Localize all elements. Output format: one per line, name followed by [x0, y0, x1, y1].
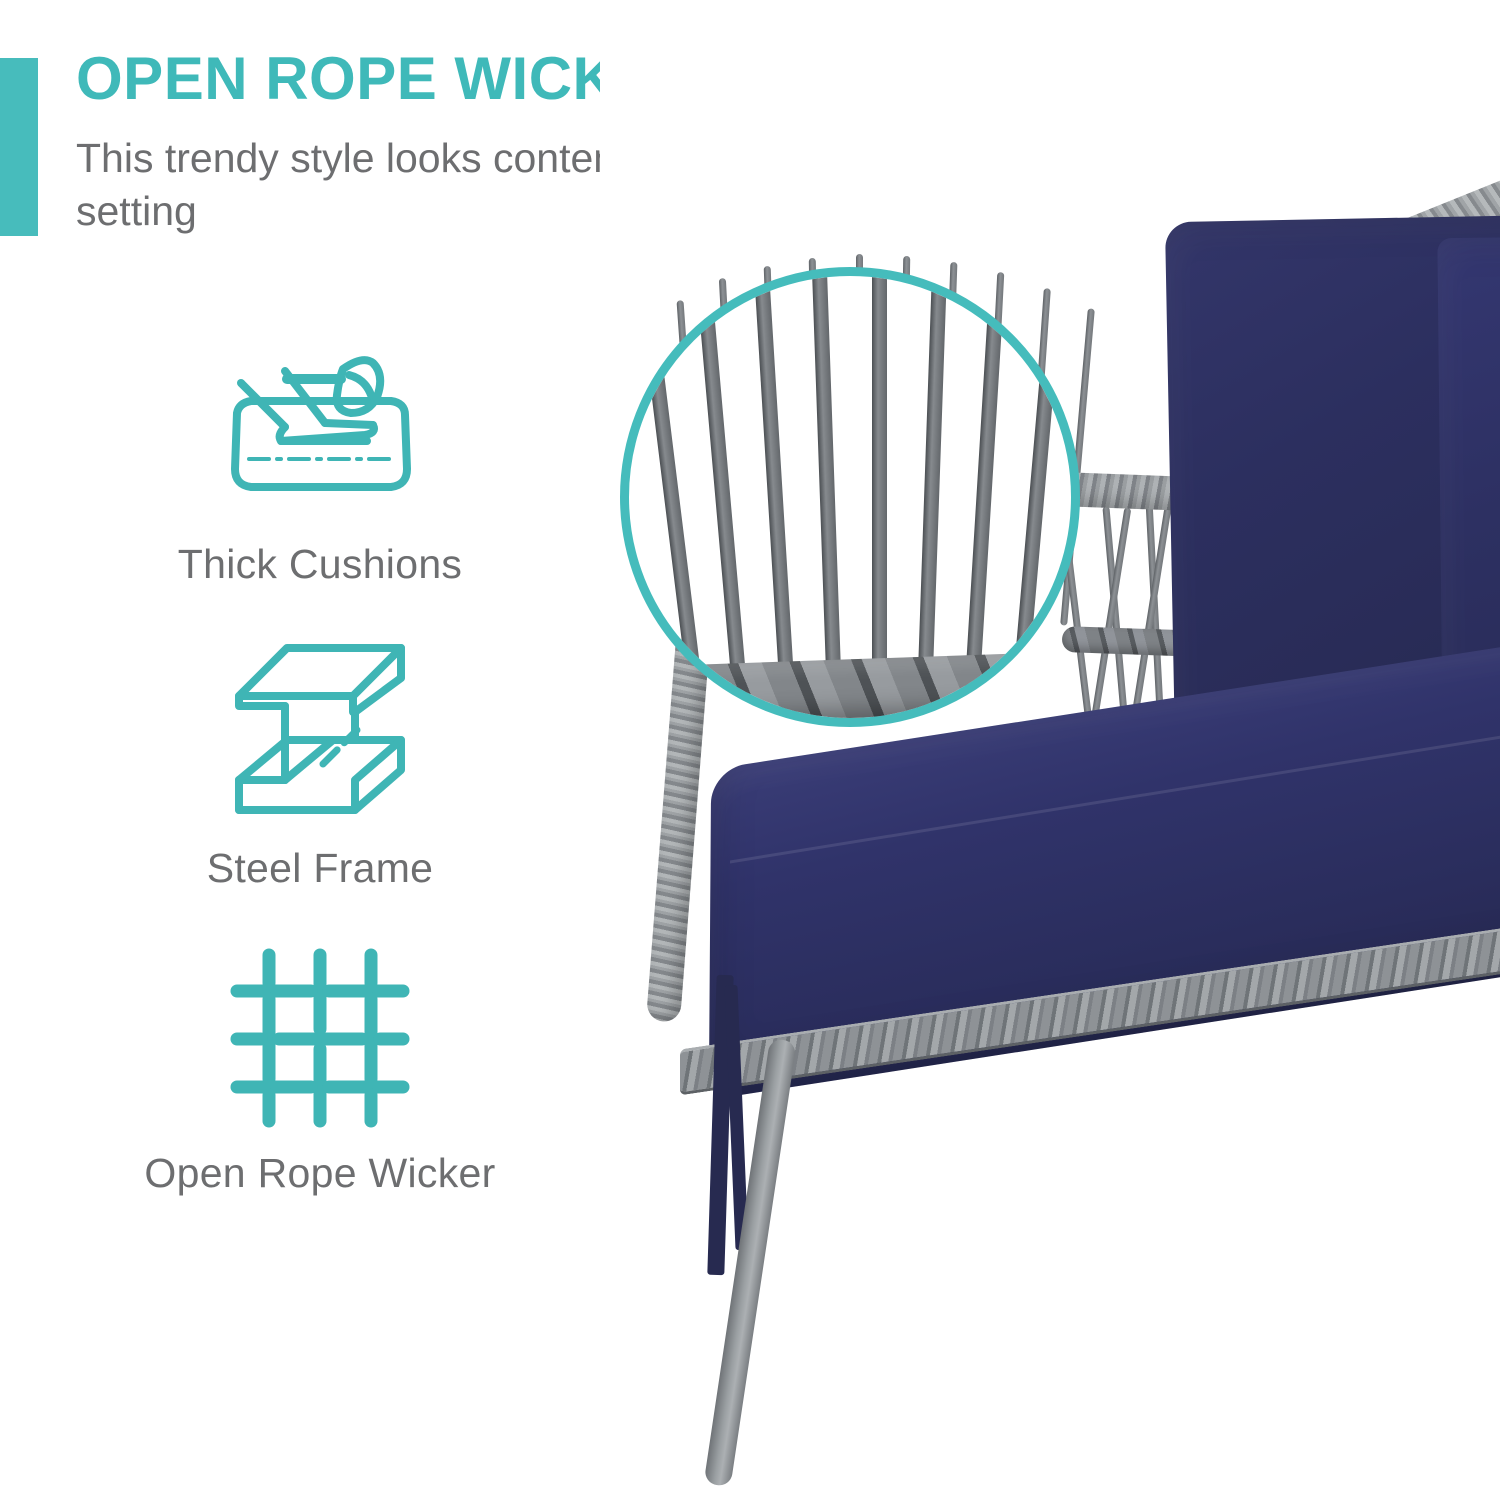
feature-list: Thick Cushions — [70, 330, 570, 1243]
accent-bar — [0, 58, 38, 236]
feature-label: Open Rope Wicker — [144, 1147, 495, 1199]
product-photo — [600, 0, 1500, 1500]
rope-strand — [812, 267, 844, 727]
feature-label: Thick Cushions — [178, 538, 462, 590]
feature-item-open-rope-wicker: Open Rope Wicker — [70, 939, 570, 1199]
magnifier-callout — [620, 267, 1080, 727]
rope-strand — [754, 267, 797, 727]
feature-item-thick-cushions: Thick Cushions — [70, 330, 570, 590]
rope-strand — [696, 279, 750, 727]
product-feature-graphic: OPEN ROPE WICKER This trendy style looks… — [0, 0, 1500, 1500]
cushion-hand-feather-icon — [215, 330, 425, 520]
steel-i-beam-icon — [225, 634, 415, 824]
rope-strand — [640, 298, 707, 727]
woven-wicker-grid-icon — [225, 939, 415, 1129]
feature-item-steel-frame: Steel Frame — [70, 634, 570, 894]
feature-label: Steel Frame — [207, 842, 434, 894]
